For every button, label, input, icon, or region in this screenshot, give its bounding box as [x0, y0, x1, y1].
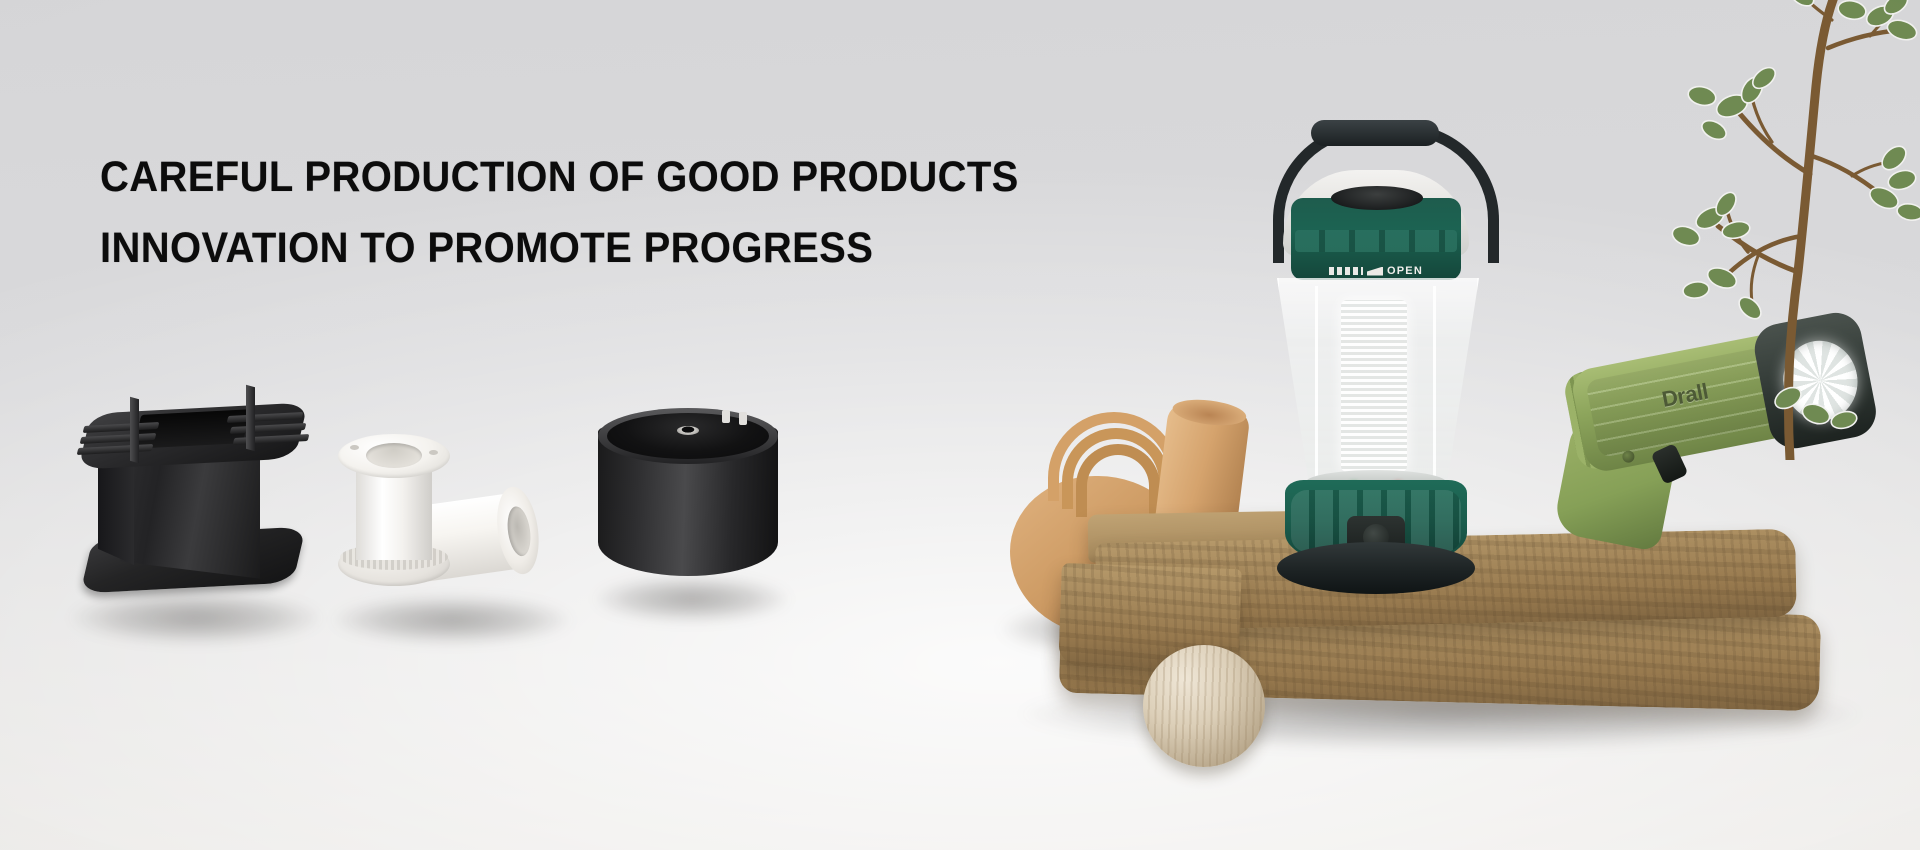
- lantern-collar-scallops: [1295, 230, 1457, 252]
- lantern-handle-grip: [1311, 120, 1439, 146]
- banner-stage: CAREFUL PRODUCTION OF GOOD PRODUCTS INNO…: [0, 0, 1920, 850]
- lantern-globe-rib: [1433, 286, 1436, 482]
- cup-center-post: [677, 426, 699, 435]
- product-white-bobbin-pair: [336, 420, 556, 620]
- white-bobbin-bore: [366, 443, 422, 468]
- lantern-globe-rib: [1315, 286, 1318, 482]
- headline-line-1: CAREFUL PRODUCTION OF GOOD PRODUCTS: [100, 143, 1019, 211]
- prop-wood-sphere: [1143, 645, 1265, 767]
- bobbin-rib: [246, 385, 255, 452]
- white-bobbin-pin-hole: [350, 445, 359, 450]
- headline-line-2: INNOVATION TO PROMOTE PROGRESS: [100, 214, 1019, 282]
- product-led-flashlight: Drall: [1554, 284, 1914, 581]
- lantern-top-cap: [1331, 186, 1423, 210]
- lantern-fluorescent-tube: [1341, 300, 1407, 472]
- open-label-text: OPEN: [1387, 266, 1423, 277]
- white-bobbin-upright: [338, 420, 450, 590]
- product-camping-lantern: OPEN: [1255, 118, 1495, 588]
- lantern-open-marking: OPEN: [1329, 264, 1439, 278]
- open-indicator-bars: [1329, 267, 1363, 275]
- cup-notch: [739, 412, 747, 425]
- banner-headline: CAREFUL PRODUCTION OF GOOD PRODUCTS INNO…: [100, 143, 1019, 282]
- cup-notch: [722, 410, 730, 423]
- lantern-rubber-foot: [1277, 542, 1475, 594]
- product-black-coil-bobbin: [78, 392, 308, 612]
- open-indicator-wedge: [1367, 267, 1383, 276]
- white-bobbin-pin-hole: [429, 450, 438, 455]
- product-black-cylinder-cup: [598, 400, 778, 600]
- bobbin-rib: [130, 397, 139, 464]
